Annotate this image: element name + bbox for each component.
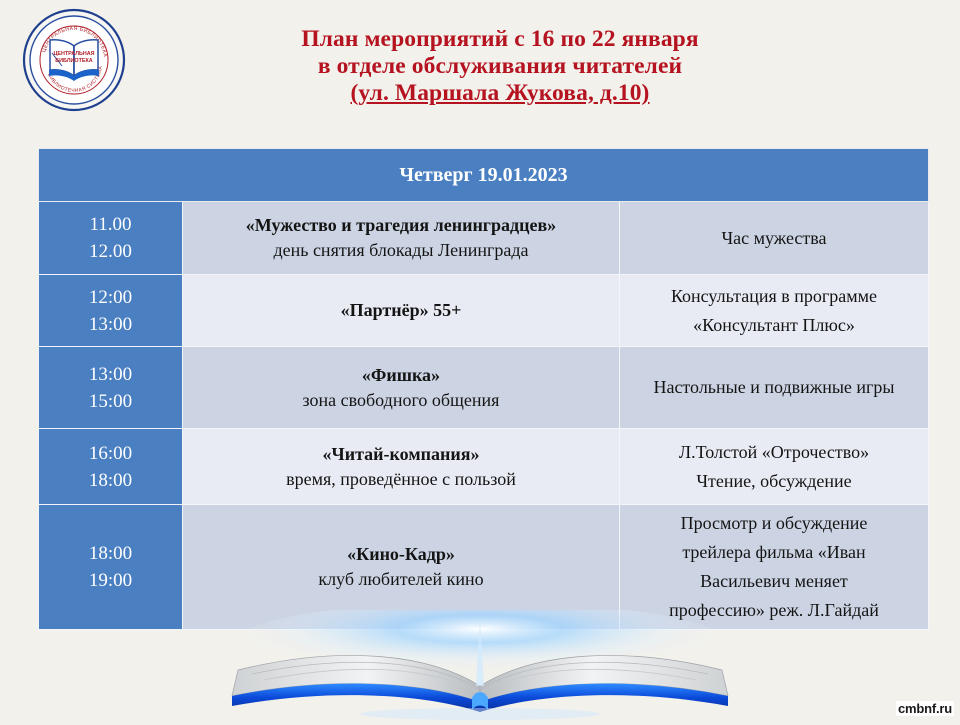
open-book-icon — [180, 610, 780, 720]
description-line: Чтение, обсуждение — [630, 467, 918, 496]
row-event-cell: «Читай-компания» время, проведённое с по… — [183, 429, 620, 505]
event-subtitle: зона свободного общения — [195, 388, 607, 413]
time-end: 13:00 — [39, 311, 182, 338]
event-subtitle: время, проведённое с пользой — [195, 467, 607, 492]
row-description-cell: Л.Толстой «Отрочество» Чтение, обсуждени… — [620, 429, 929, 505]
row-time-cell: 13:00 15:00 — [39, 347, 183, 429]
site-watermark: cmbnf.ru — [896, 701, 954, 716]
description-line: трейлера фильма «Иван — [630, 538, 918, 567]
time-end: 18:00 — [39, 467, 182, 494]
table-row: 11.00 12.00 «Мужество и трагедия ленингр… — [39, 202, 929, 275]
time-start: 18:00 — [39, 540, 182, 567]
table-row: 12:00 13:00 «Партнёр» 55+ Консультация в… — [39, 275, 929, 347]
row-event-cell: «Фишка» зона свободного общения — [183, 347, 620, 429]
time-end: 19:00 — [39, 567, 182, 594]
description-line: Л.Толстой «Отрочество» — [630, 438, 918, 467]
library-logo: ЦЕНТРАЛЬНАЯ БИБЛИОТЕКА ГОРОДА БИБЛИОТЕЧН… — [22, 8, 126, 112]
time-start: 12:00 — [39, 284, 182, 311]
logo-inner-line1: ЦЕНТРАЛЬНАЯ — [53, 51, 94, 57]
time-start: 13:00 — [39, 361, 182, 388]
row-event-cell: «Партнёр» 55+ — [183, 275, 620, 347]
row-time-cell: 18:00 19:00 — [39, 505, 183, 630]
event-title: «Кино-Кадр» — [195, 542, 607, 567]
table-row: 13:00 15:00 «Фишка» зона свободного обще… — [39, 347, 929, 429]
table-header-row: Четверг 19.01.2023 — [39, 149, 929, 202]
time-start: 16:00 — [39, 440, 182, 467]
event-title: «Мужество и трагедия ленинградцев» — [195, 213, 607, 238]
time-end: 15:00 — [39, 388, 182, 415]
table-row: 16:00 18:00 «Читай-компания» время, пров… — [39, 429, 929, 505]
row-time-cell: 12:00 13:00 — [39, 275, 183, 347]
day-header-cell: Четверг 19.01.2023 — [39, 149, 929, 202]
description-line: Просмотр и обсуждение — [630, 509, 918, 538]
description-line: Васильевич меняет — [630, 567, 918, 596]
title-line-1: План мероприятий с 16 по 22 января — [150, 26, 850, 53]
description-line: «Консультант Плюс» — [630, 311, 918, 340]
time-end: 12.00 — [39, 238, 182, 265]
title-line-3-address: (ул. Маршала Жукова, д.10) — [150, 80, 850, 107]
event-title: «Читай-компания» — [195, 442, 607, 467]
time-start: 11.00 — [39, 211, 182, 238]
schedule-table: Четверг 19.01.2023 11.00 12.00 «Мужество… — [38, 148, 929, 630]
row-description-cell: Час мужества — [620, 202, 929, 275]
description-line: Час мужества — [630, 224, 918, 253]
event-subtitle: день снятия блокады Ленинграда — [195, 238, 607, 263]
row-description-cell: Консультация в программе «Консультант Пл… — [620, 275, 929, 347]
description-line: Настольные и подвижные игры — [630, 373, 918, 402]
title-line-2: в отделе обслуживания читателей — [150, 53, 850, 80]
logo-inner-line2: БИБЛИОТЕКА — [55, 58, 93, 64]
row-time-cell: 16:00 18:00 — [39, 429, 183, 505]
page-title: План мероприятий с 16 по 22 января в отд… — [150, 26, 850, 107]
row-event-cell: «Мужество и трагедия ленинградцев» день … — [183, 202, 620, 275]
row-description-cell: Настольные и подвижные игры — [620, 347, 929, 429]
row-time-cell: 11.00 12.00 — [39, 202, 183, 275]
event-subtitle: клуб любителей кино — [195, 567, 607, 592]
description-line: Консультация в программе — [630, 282, 918, 311]
event-title: «Партнёр» 55+ — [195, 298, 607, 323]
event-title: «Фишка» — [195, 363, 607, 388]
